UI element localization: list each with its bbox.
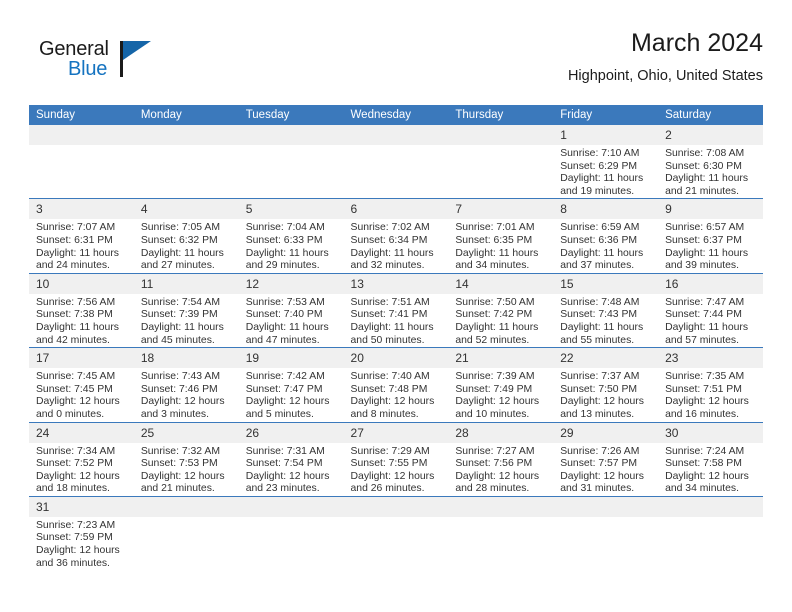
day-details: Sunrise: 7:29 AMSunset: 7:55 PMDaylight:…	[344, 443, 449, 496]
sunrise-sunset-calendar: Sunday Monday Tuesday Wednesday Thursday…	[29, 105, 763, 570]
day-details: Sunrise: 7:26 AMSunset: 7:57 PMDaylight:…	[553, 443, 658, 496]
sunrise-text: Sunrise: 7:48 AM	[560, 297, 652, 310]
calendar-week-row: 24Sunrise: 7:34 AMSunset: 7:52 PMDayligh…	[29, 422, 763, 496]
day-number: 24	[29, 423, 134, 443]
daylight-line1-text: Daylight: 11 hours	[141, 248, 233, 261]
day-details: Sunrise: 7:40 AMSunset: 7:48 PMDaylight:…	[344, 368, 449, 421]
calendar-day-cell[interactable]: 12Sunrise: 7:53 AMSunset: 7:40 PMDayligh…	[239, 273, 344, 347]
daylight-line2-text: and 29 minutes.	[246, 260, 338, 273]
daylight-line1-text: Daylight: 12 hours	[665, 471, 757, 484]
calendar-day-cell[interactable]: 15Sunrise: 7:48 AMSunset: 7:43 PMDayligh…	[553, 273, 658, 347]
sunrise-text: Sunrise: 7:34 AM	[36, 446, 128, 459]
daylight-line2-text: and 32 minutes.	[351, 260, 443, 273]
daylight-line2-text: and 47 minutes.	[246, 335, 338, 348]
sunrise-text: Sunrise: 7:08 AM	[665, 148, 757, 161]
calendar-day-cell-empty	[29, 125, 134, 199]
calendar-day-cell-empty	[344, 125, 449, 199]
calendar-day-cell[interactable]: 24Sunrise: 7:34 AMSunset: 7:52 PMDayligh…	[29, 422, 134, 496]
daylight-line1-text: Daylight: 11 hours	[36, 248, 128, 261]
day-number	[29, 125, 134, 145]
day-number	[344, 497, 449, 517]
page-subtitle: Highpoint, Ohio, United States	[568, 65, 763, 87]
day-number	[239, 125, 344, 145]
calendar-day-cell-empty	[658, 496, 763, 570]
day-number	[553, 497, 658, 517]
sunrise-text: Sunrise: 7:47 AM	[665, 297, 757, 310]
calendar-day-cell-empty	[448, 496, 553, 570]
calendar-day-cell[interactable]: 18Sunrise: 7:43 AMSunset: 7:46 PMDayligh…	[134, 348, 239, 422]
calendar-day-cell[interactable]: 7Sunrise: 7:01 AMSunset: 6:35 PMDaylight…	[448, 199, 553, 273]
sunset-text: Sunset: 7:45 PM	[36, 384, 128, 397]
day-number: 2	[658, 125, 763, 145]
sunset-text: Sunset: 7:57 PM	[560, 458, 652, 471]
weekday-header-wednesday: Wednesday	[344, 105, 449, 125]
calendar-day-cell[interactable]: 20Sunrise: 7:40 AMSunset: 7:48 PMDayligh…	[344, 348, 449, 422]
calendar-day-cell[interactable]: 27Sunrise: 7:29 AMSunset: 7:55 PMDayligh…	[344, 422, 449, 496]
daylight-line2-text: and 37 minutes.	[560, 260, 652, 273]
calendar-day-cell[interactable]: 4Sunrise: 7:05 AMSunset: 6:32 PMDaylight…	[134, 199, 239, 273]
page-title: March 2024	[568, 28, 763, 58]
day-number: 5	[239, 199, 344, 219]
daylight-line2-text: and 52 minutes.	[455, 335, 547, 348]
day-number: 18	[134, 348, 239, 368]
day-number: 7	[448, 199, 553, 219]
daylight-line1-text: Daylight: 11 hours	[560, 248, 652, 261]
day-details: Sunrise: 6:57 AMSunset: 6:37 PMDaylight:…	[658, 219, 763, 272]
daylight-line2-text: and 5 minutes.	[246, 409, 338, 422]
sunrise-text: Sunrise: 7:50 AM	[455, 297, 547, 310]
day-details: Sunrise: 7:08 AMSunset: 6:30 PMDaylight:…	[658, 145, 763, 198]
day-number	[134, 497, 239, 517]
calendar-week-row: 1Sunrise: 7:10 AMSunset: 6:29 PMDaylight…	[29, 125, 763, 199]
sunset-text: Sunset: 7:38 PM	[36, 309, 128, 322]
day-number: 14	[448, 274, 553, 294]
daylight-line2-text: and 16 minutes.	[665, 409, 757, 422]
day-number: 31	[29, 497, 134, 517]
sunrise-text: Sunrise: 7:24 AM	[665, 446, 757, 459]
sunrise-text: Sunrise: 7:27 AM	[455, 446, 547, 459]
calendar-day-cell[interactable]: 13Sunrise: 7:51 AMSunset: 7:41 PMDayligh…	[344, 273, 449, 347]
weekday-header-tuesday: Tuesday	[239, 105, 344, 125]
calendar-day-cell[interactable]: 6Sunrise: 7:02 AMSunset: 6:34 PMDaylight…	[344, 199, 449, 273]
weekday-header-thursday: Thursday	[448, 105, 553, 125]
daylight-line1-text: Daylight: 11 hours	[665, 173, 757, 186]
daylight-line2-text: and 21 minutes.	[665, 186, 757, 199]
day-details: Sunrise: 7:47 AMSunset: 7:44 PMDaylight:…	[658, 294, 763, 347]
calendar-day-cell[interactable]: 8Sunrise: 6:59 AMSunset: 6:36 PMDaylight…	[553, 199, 658, 273]
daylight-line2-text: and 3 minutes.	[141, 409, 233, 422]
sunset-text: Sunset: 6:29 PM	[560, 161, 652, 174]
calendar-day-cell[interactable]: 5Sunrise: 7:04 AMSunset: 6:33 PMDaylight…	[239, 199, 344, 273]
calendar-week-row: 3Sunrise: 7:07 AMSunset: 6:31 PMDaylight…	[29, 199, 763, 273]
sunrise-text: Sunrise: 7:23 AM	[36, 520, 128, 533]
daylight-line1-text: Daylight: 11 hours	[665, 248, 757, 261]
day-number: 1	[553, 125, 658, 145]
calendar-day-cell[interactable]: 16Sunrise: 7:47 AMSunset: 7:44 PMDayligh…	[658, 273, 763, 347]
sunrise-text: Sunrise: 7:56 AM	[36, 297, 128, 310]
day-details: Sunrise: 7:24 AMSunset: 7:58 PMDaylight:…	[658, 443, 763, 496]
sunrise-text: Sunrise: 7:26 AM	[560, 446, 652, 459]
daylight-line1-text: Daylight: 12 hours	[351, 396, 443, 409]
day-details: Sunrise: 7:01 AMSunset: 6:35 PMDaylight:…	[448, 219, 553, 272]
calendar-day-cell[interactable]: 19Sunrise: 7:42 AMSunset: 7:47 PMDayligh…	[239, 348, 344, 422]
calendar-day-cell[interactable]: 21Sunrise: 7:39 AMSunset: 7:49 PMDayligh…	[448, 348, 553, 422]
day-number: 4	[134, 199, 239, 219]
calendar-day-cell[interactable]: 26Sunrise: 7:31 AMSunset: 7:54 PMDayligh…	[239, 422, 344, 496]
day-number: 23	[658, 348, 763, 368]
calendar-week-row: 31Sunrise: 7:23 AMSunset: 7:59 PMDayligh…	[29, 496, 763, 570]
sunset-text: Sunset: 6:33 PM	[246, 235, 338, 248]
sunset-text: Sunset: 7:41 PM	[351, 309, 443, 322]
day-details: Sunrise: 7:31 AMSunset: 7:54 PMDaylight:…	[239, 443, 344, 496]
day-details: Sunrise: 6:59 AMSunset: 6:36 PMDaylight:…	[553, 219, 658, 272]
sunrise-text: Sunrise: 7:35 AM	[665, 371, 757, 384]
calendar-day-cell[interactable]: 22Sunrise: 7:37 AMSunset: 7:50 PMDayligh…	[553, 348, 658, 422]
daylight-line1-text: Daylight: 11 hours	[351, 322, 443, 335]
sunrise-text: Sunrise: 7:53 AM	[246, 297, 338, 310]
daylight-line2-text: and 50 minutes.	[351, 335, 443, 348]
sunrise-text: Sunrise: 7:43 AM	[141, 371, 233, 384]
calendar-page: General Blue March 2024 Highpoint, Ohio,…	[0, 0, 792, 612]
sunrise-text: Sunrise: 7:05 AM	[141, 222, 233, 235]
daylight-line2-text: and 45 minutes.	[141, 335, 233, 348]
day-details: Sunrise: 7:07 AMSunset: 6:31 PMDaylight:…	[29, 219, 134, 272]
daylight-line2-text: and 8 minutes.	[351, 409, 443, 422]
daylight-line1-text: Daylight: 12 hours	[36, 396, 128, 409]
day-number	[448, 497, 553, 517]
sunset-text: Sunset: 6:37 PM	[665, 235, 757, 248]
day-number	[134, 125, 239, 145]
day-details: Sunrise: 7:10 AMSunset: 6:29 PMDaylight:…	[553, 145, 658, 198]
daylight-line1-text: Daylight: 11 hours	[455, 248, 547, 261]
daylight-line2-text: and 42 minutes.	[36, 335, 128, 348]
daylight-line2-text: and 19 minutes.	[560, 186, 652, 199]
day-number: 27	[344, 423, 449, 443]
calendar-day-cell[interactable]: 28Sunrise: 7:27 AMSunset: 7:56 PMDayligh…	[448, 422, 553, 496]
sunrise-text: Sunrise: 7:39 AM	[455, 371, 547, 384]
sunset-text: Sunset: 7:43 PM	[560, 309, 652, 322]
day-details: Sunrise: 7:42 AMSunset: 7:47 PMDaylight:…	[239, 368, 344, 421]
day-details: Sunrise: 7:45 AMSunset: 7:45 PMDaylight:…	[29, 368, 134, 421]
day-details: Sunrise: 7:50 AMSunset: 7:42 PMDaylight:…	[448, 294, 553, 347]
sunset-text: Sunset: 6:34 PM	[351, 235, 443, 248]
daylight-line2-text: and 0 minutes.	[36, 409, 128, 422]
daylight-line1-text: Daylight: 11 hours	[665, 322, 757, 335]
sunset-text: Sunset: 7:39 PM	[141, 309, 233, 322]
sunrise-text: Sunrise: 7:32 AM	[141, 446, 233, 459]
day-details: Sunrise: 7:27 AMSunset: 7:56 PMDaylight:…	[448, 443, 553, 496]
daylight-line1-text: Daylight: 12 hours	[351, 471, 443, 484]
sunset-text: Sunset: 7:50 PM	[560, 384, 652, 397]
sunset-text: Sunset: 7:59 PM	[36, 532, 128, 545]
daylight-line2-text: and 21 minutes.	[141, 483, 233, 496]
daylight-line2-text: and 36 minutes.	[36, 558, 128, 571]
sunrise-text: Sunrise: 7:54 AM	[141, 297, 233, 310]
day-number: 21	[448, 348, 553, 368]
calendar-day-cell[interactable]: 1Sunrise: 7:10 AMSunset: 6:29 PMDaylight…	[553, 125, 658, 199]
day-details: Sunrise: 7:04 AMSunset: 6:33 PMDaylight:…	[239, 219, 344, 272]
day-number: 12	[239, 274, 344, 294]
daylight-line1-text: Daylight: 12 hours	[560, 396, 652, 409]
sunset-text: Sunset: 6:35 PM	[455, 235, 547, 248]
day-details: Sunrise: 7:02 AMSunset: 6:34 PMDaylight:…	[344, 219, 449, 272]
day-number: 17	[29, 348, 134, 368]
calendar-day-cell[interactable]: 17Sunrise: 7:45 AMSunset: 7:45 PMDayligh…	[29, 348, 134, 422]
day-details: Sunrise: 7:05 AMSunset: 6:32 PMDaylight:…	[134, 219, 239, 272]
day-number: 19	[239, 348, 344, 368]
sunset-text: Sunset: 7:46 PM	[141, 384, 233, 397]
calendar-head: Sunday Monday Tuesday Wednesday Thursday…	[29, 105, 763, 125]
daylight-line1-text: Daylight: 11 hours	[351, 248, 443, 261]
daylight-line2-text: and 24 minutes.	[36, 260, 128, 273]
daylight-line1-text: Daylight: 11 hours	[36, 322, 128, 335]
daylight-line2-text: and 39 minutes.	[665, 260, 757, 273]
sunrise-text: Sunrise: 7:07 AM	[36, 222, 128, 235]
day-details: Sunrise: 7:23 AMSunset: 7:59 PMDaylight:…	[29, 517, 134, 570]
sunset-text: Sunset: 6:30 PM	[665, 161, 757, 174]
daylight-line1-text: Daylight: 12 hours	[560, 471, 652, 484]
calendar-day-cell[interactable]: 29Sunrise: 7:26 AMSunset: 7:57 PMDayligh…	[553, 422, 658, 496]
day-details: Sunrise: 7:43 AMSunset: 7:46 PMDaylight:…	[134, 368, 239, 421]
logo-text-blue: Blue	[68, 58, 107, 81]
calendar-day-cell[interactable]: 14Sunrise: 7:50 AMSunset: 7:42 PMDayligh…	[448, 273, 553, 347]
daylight-line2-text: and 27 minutes.	[141, 260, 233, 273]
day-details: Sunrise: 7:53 AMSunset: 7:40 PMDaylight:…	[239, 294, 344, 347]
daylight-line1-text: Daylight: 11 hours	[246, 248, 338, 261]
sunset-text: Sunset: 7:49 PM	[455, 384, 547, 397]
day-number: 25	[134, 423, 239, 443]
sunrise-text: Sunrise: 7:37 AM	[560, 371, 652, 384]
sunset-text: Sunset: 7:42 PM	[455, 309, 547, 322]
day-number: 22	[553, 348, 658, 368]
day-number: 9	[658, 199, 763, 219]
sunset-text: Sunset: 7:48 PM	[351, 384, 443, 397]
daylight-line2-text: and 34 minutes.	[665, 483, 757, 496]
calendar-day-cell-empty	[134, 496, 239, 570]
day-details: Sunrise: 7:51 AMSunset: 7:41 PMDaylight:…	[344, 294, 449, 347]
day-number: 15	[553, 274, 658, 294]
daylight-line1-text: Daylight: 11 hours	[560, 173, 652, 186]
daylight-line1-text: Daylight: 12 hours	[36, 545, 128, 558]
calendar-day-cell[interactable]: 2Sunrise: 7:08 AMSunset: 6:30 PMDaylight…	[658, 125, 763, 199]
sunrise-text: Sunrise: 7:45 AM	[36, 371, 128, 384]
sunrise-text: Sunrise: 7:10 AM	[560, 148, 652, 161]
sunset-text: Sunset: 7:47 PM	[246, 384, 338, 397]
daylight-line1-text: Daylight: 12 hours	[141, 471, 233, 484]
daylight-line2-text: and 10 minutes.	[455, 409, 547, 422]
daylight-line1-text: Daylight: 12 hours	[141, 396, 233, 409]
day-number	[448, 125, 553, 145]
daylight-line1-text: Daylight: 12 hours	[455, 471, 547, 484]
daylight-line2-text: and 34 minutes.	[455, 260, 547, 273]
sunset-text: Sunset: 7:56 PM	[455, 458, 547, 471]
daylight-line1-text: Daylight: 11 hours	[246, 322, 338, 335]
daylight-line1-text: Daylight: 11 hours	[141, 322, 233, 335]
calendar-day-cell[interactable]: 30Sunrise: 7:24 AMSunset: 7:58 PMDayligh…	[658, 422, 763, 496]
calendar-day-cell-empty	[239, 496, 344, 570]
triangle-flag-icon	[123, 41, 151, 60]
sunrise-text: Sunrise: 7:31 AM	[246, 446, 338, 459]
page-header: General Blue March 2024 Highpoint, Ohio,…	[29, 28, 763, 98]
day-details: Sunrise: 7:48 AMSunset: 7:43 PMDaylight:…	[553, 294, 658, 347]
daylight-line2-text: and 28 minutes.	[455, 483, 547, 496]
calendar-body: 1Sunrise: 7:10 AMSunset: 6:29 PMDaylight…	[29, 125, 763, 570]
sunrise-text: Sunrise: 7:01 AM	[455, 222, 547, 235]
day-number: 11	[134, 274, 239, 294]
daylight-line2-text: and 13 minutes.	[560, 409, 652, 422]
day-details: Sunrise: 7:34 AMSunset: 7:52 PMDaylight:…	[29, 443, 134, 496]
sunset-text: Sunset: 7:55 PM	[351, 458, 443, 471]
daylight-line2-text: and 55 minutes.	[560, 335, 652, 348]
daylight-line2-text: and 18 minutes.	[36, 483, 128, 496]
daylight-line2-text: and 23 minutes.	[246, 483, 338, 496]
day-number: 3	[29, 199, 134, 219]
calendar-day-cell[interactable]: 11Sunrise: 7:54 AMSunset: 7:39 PMDayligh…	[134, 273, 239, 347]
sunrise-text: Sunrise: 7:04 AM	[246, 222, 338, 235]
day-details: Sunrise: 7:39 AMSunset: 7:49 PMDaylight:…	[448, 368, 553, 421]
calendar-day-cell-empty	[134, 125, 239, 199]
weekday-header-sunday: Sunday	[29, 105, 134, 125]
day-details: Sunrise: 7:56 AMSunset: 7:38 PMDaylight:…	[29, 294, 134, 347]
sunset-text: Sunset: 7:44 PM	[665, 309, 757, 322]
day-number: 6	[344, 199, 449, 219]
day-number: 16	[658, 274, 763, 294]
calendar-day-cell-empty	[344, 496, 449, 570]
daylight-line1-text: Daylight: 12 hours	[36, 471, 128, 484]
calendar-day-cell[interactable]: 3Sunrise: 7:07 AMSunset: 6:31 PMDaylight…	[29, 199, 134, 273]
day-details: Sunrise: 7:35 AMSunset: 7:51 PMDaylight:…	[658, 368, 763, 421]
sunset-text: Sunset: 7:53 PM	[141, 458, 233, 471]
daylight-line2-text: and 26 minutes.	[351, 483, 443, 496]
sunset-text: Sunset: 7:58 PM	[665, 458, 757, 471]
sunset-text: Sunset: 6:36 PM	[560, 235, 652, 248]
weekday-header-monday: Monday	[134, 105, 239, 125]
calendar-week-row: 10Sunrise: 7:56 AMSunset: 7:38 PMDayligh…	[29, 273, 763, 347]
calendar-day-cell[interactable]: 23Sunrise: 7:35 AMSunset: 7:51 PMDayligh…	[658, 348, 763, 422]
weekday-header-row: Sunday Monday Tuesday Wednesday Thursday…	[29, 105, 763, 125]
day-number: 8	[553, 199, 658, 219]
day-number: 30	[658, 423, 763, 443]
day-number: 28	[448, 423, 553, 443]
weekday-header-friday: Friday	[553, 105, 658, 125]
day-number	[239, 497, 344, 517]
sunrise-text: Sunrise: 7:02 AM	[351, 222, 443, 235]
sunrise-text: Sunrise: 6:57 AM	[665, 222, 757, 235]
sunset-text: Sunset: 7:40 PM	[246, 309, 338, 322]
daylight-line1-text: Daylight: 12 hours	[246, 396, 338, 409]
day-number: 13	[344, 274, 449, 294]
day-number	[658, 497, 763, 517]
day-number: 26	[239, 423, 344, 443]
daylight-line1-text: Daylight: 12 hours	[455, 396, 547, 409]
day-number: 10	[29, 274, 134, 294]
day-details: Sunrise: 7:32 AMSunset: 7:53 PMDaylight:…	[134, 443, 239, 496]
calendar-day-cell-empty	[553, 496, 658, 570]
calendar-day-cell-empty	[239, 125, 344, 199]
calendar-day-cell-empty	[448, 125, 553, 199]
sunrise-text: Sunrise: 7:51 AM	[351, 297, 443, 310]
calendar-day-cell[interactable]: 9Sunrise: 6:57 AMSunset: 6:37 PMDaylight…	[658, 199, 763, 273]
sunset-text: Sunset: 7:51 PM	[665, 384, 757, 397]
daylight-line1-text: Daylight: 12 hours	[246, 471, 338, 484]
day-number	[344, 125, 449, 145]
daylight-line1-text: Daylight: 11 hours	[560, 322, 652, 335]
day-number: 20	[344, 348, 449, 368]
title-block: March 2024 Highpoint, Ohio, United State…	[568, 28, 763, 87]
general-blue-logo[interactable]: General Blue	[39, 38, 209, 90]
sunrise-text: Sunrise: 7:42 AM	[246, 371, 338, 384]
sunset-text: Sunset: 6:32 PM	[141, 235, 233, 248]
day-details: Sunrise: 7:54 AMSunset: 7:39 PMDaylight:…	[134, 294, 239, 347]
day-details: Sunrise: 7:37 AMSunset: 7:50 PMDaylight:…	[553, 368, 658, 421]
day-number: 29	[553, 423, 658, 443]
daylight-line1-text: Daylight: 12 hours	[665, 396, 757, 409]
sunset-text: Sunset: 7:52 PM	[36, 458, 128, 471]
sunset-text: Sunset: 6:31 PM	[36, 235, 128, 248]
weekday-header-saturday: Saturday	[658, 105, 763, 125]
calendar-day-cell[interactable]: 10Sunrise: 7:56 AMSunset: 7:38 PMDayligh…	[29, 273, 134, 347]
sunrise-text: Sunrise: 6:59 AM	[560, 222, 652, 235]
calendar-day-cell[interactable]: 25Sunrise: 7:32 AMSunset: 7:53 PMDayligh…	[134, 422, 239, 496]
daylight-line2-text: and 31 minutes.	[560, 483, 652, 496]
daylight-line1-text: Daylight: 11 hours	[455, 322, 547, 335]
sunrise-text: Sunrise: 7:29 AM	[351, 446, 443, 459]
calendar-week-row: 17Sunrise: 7:45 AMSunset: 7:45 PMDayligh…	[29, 348, 763, 422]
sunset-text: Sunset: 7:54 PM	[246, 458, 338, 471]
calendar-day-cell[interactable]: 31Sunrise: 7:23 AMSunset: 7:59 PMDayligh…	[29, 496, 134, 570]
daylight-line2-text: and 57 minutes.	[665, 335, 757, 348]
sunrise-text: Sunrise: 7:40 AM	[351, 371, 443, 384]
